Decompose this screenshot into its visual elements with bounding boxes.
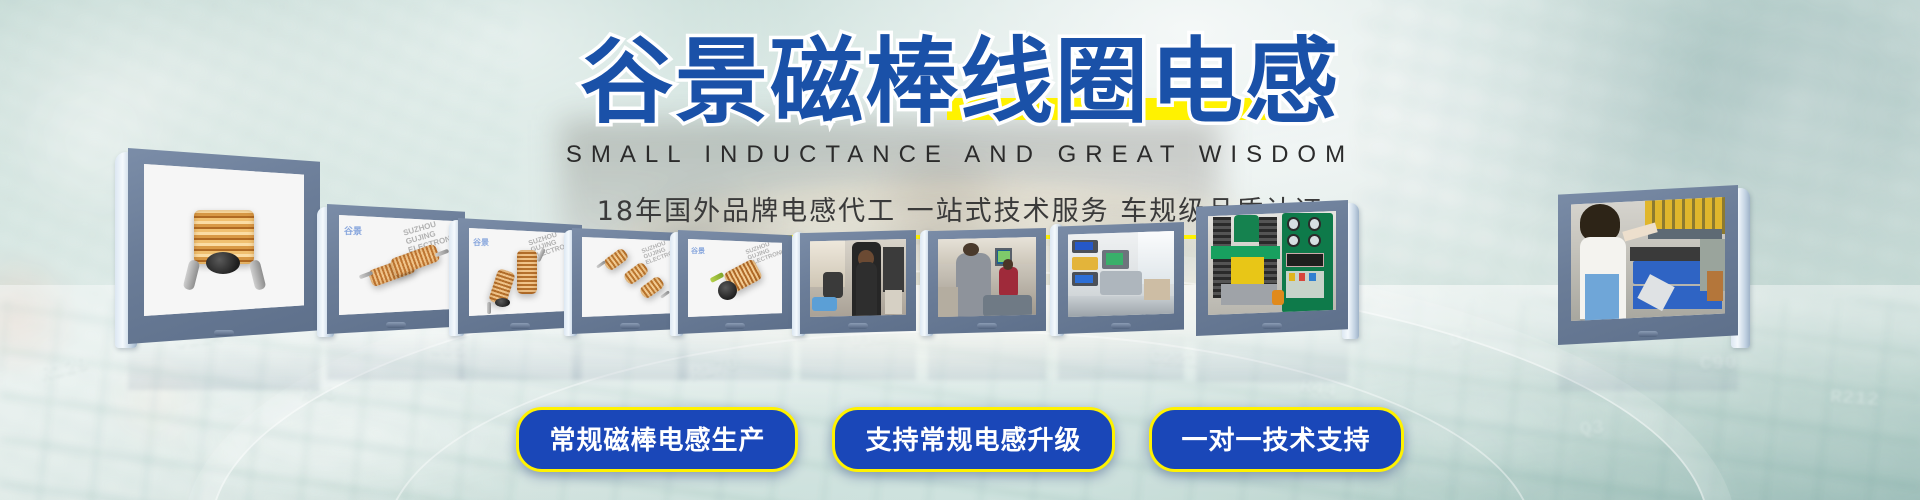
- panel-reflection: [1058, 334, 1184, 380]
- promo-banner: R129C124R30L05C63R170U12J8C221R44D7Q3C90…: [0, 0, 1920, 500]
- watermark-cn: 谷景: [473, 238, 489, 248]
- panel-screen: [144, 164, 304, 316]
- panel-reflection: [128, 344, 320, 390]
- product-photo-coil-inductor: 谷景 SUZHOU GUJING ELECTRONIC: [688, 239, 782, 317]
- panel-reflection: [928, 334, 1046, 380]
- display-panel-factory-1[interactable]: [800, 230, 916, 334]
- panel-screen: SUZHOU GUJING ELECTRONIC: [582, 237, 678, 317]
- feature-pill-3[interactable]: 一对一技术支持: [1149, 407, 1404, 472]
- display-panel-factory-2[interactable]: [928, 228, 1046, 334]
- panel-screen: [1068, 231, 1174, 317]
- panel-indicator: [510, 323, 530, 329]
- panel-reflection: [572, 334, 688, 380]
- panel-indicator: [1638, 331, 1658, 337]
- display-panel-product-5[interactable]: 谷景 SUZHOU GUJING ELECTRONIC: [678, 230, 792, 334]
- factory-photo-hydraulic-press: [1208, 211, 1336, 315]
- panel-indicator: [1111, 323, 1131, 329]
- display-panel-factory-4[interactable]: [1196, 200, 1348, 336]
- watermark-cn: 谷景: [344, 227, 362, 238]
- panel-screen: [1571, 197, 1725, 321]
- feature-pill-2[interactable]: 支持常规电感升级: [832, 407, 1114, 472]
- feature-pill-1[interactable]: 常规磁棒电感生产: [516, 407, 798, 472]
- panel-screen: 谷景 SUZHOU GUJING ELECTRONIC: [469, 228, 571, 316]
- feature-pill-row: 常规磁棒电感生产支持常规电感升级一对一技术支持: [0, 407, 1920, 472]
- display-panel-product-1[interactable]: [128, 148, 320, 344]
- panel-screen: [938, 237, 1036, 317]
- panel-reflection: [678, 334, 792, 380]
- panel-screen: [810, 239, 906, 317]
- panel-screen: 谷景 SUZHOU GUJING ELECTRONIC: [339, 215, 453, 315]
- product-photo-coil-inductor: 谷景 SUZHOU GUJING ELECTRONIC: [469, 228, 571, 316]
- panel-indicator: [620, 323, 640, 329]
- panel-indicator: [386, 322, 406, 328]
- factory-photo-assembly: [938, 237, 1036, 317]
- panel-indicator: [214, 330, 234, 336]
- panel-reflection: [800, 334, 916, 380]
- panel-reflection: [1196, 336, 1348, 382]
- panel-reflection: [1558, 345, 1738, 391]
- factory-photo-test-equipment: [1068, 231, 1174, 317]
- display-panel-product-2[interactable]: 谷景 SUZHOU GUJING ELECTRONIC: [327, 204, 465, 334]
- panel-indicator: [725, 323, 745, 329]
- panel-screen: 谷景 SUZHOU GUJING ELECTRONIC: [688, 239, 782, 317]
- title-row: 谷景磁棒线圈电感: [580, 32, 1340, 132]
- panel-indicator: [848, 323, 868, 329]
- factory-photo-inspection: [810, 239, 906, 317]
- product-photo-coil-inductor: SUZHOU GUJING ELECTRONIC: [582, 237, 678, 317]
- panel-reflection: [327, 334, 465, 380]
- panel-indicator: [977, 323, 997, 329]
- panel-indicator: [1262, 323, 1282, 329]
- panel-reflection: [458, 334, 582, 380]
- panel-screen: [1208, 211, 1336, 315]
- product-photo-coil-inductor: 谷景 SUZHOU GUJING ELECTRONIC: [339, 215, 453, 315]
- product-photo-coil-inductor: [144, 164, 304, 316]
- factory-photo-winding-line: [1571, 197, 1725, 321]
- watermark-cn: 谷景: [691, 247, 705, 256]
- display-panel-factory-3[interactable]: [1058, 222, 1184, 334]
- page-title: 谷景磁棒线圈电感: [580, 32, 1340, 132]
- display-panel-factory-5[interactable]: [1558, 185, 1738, 345]
